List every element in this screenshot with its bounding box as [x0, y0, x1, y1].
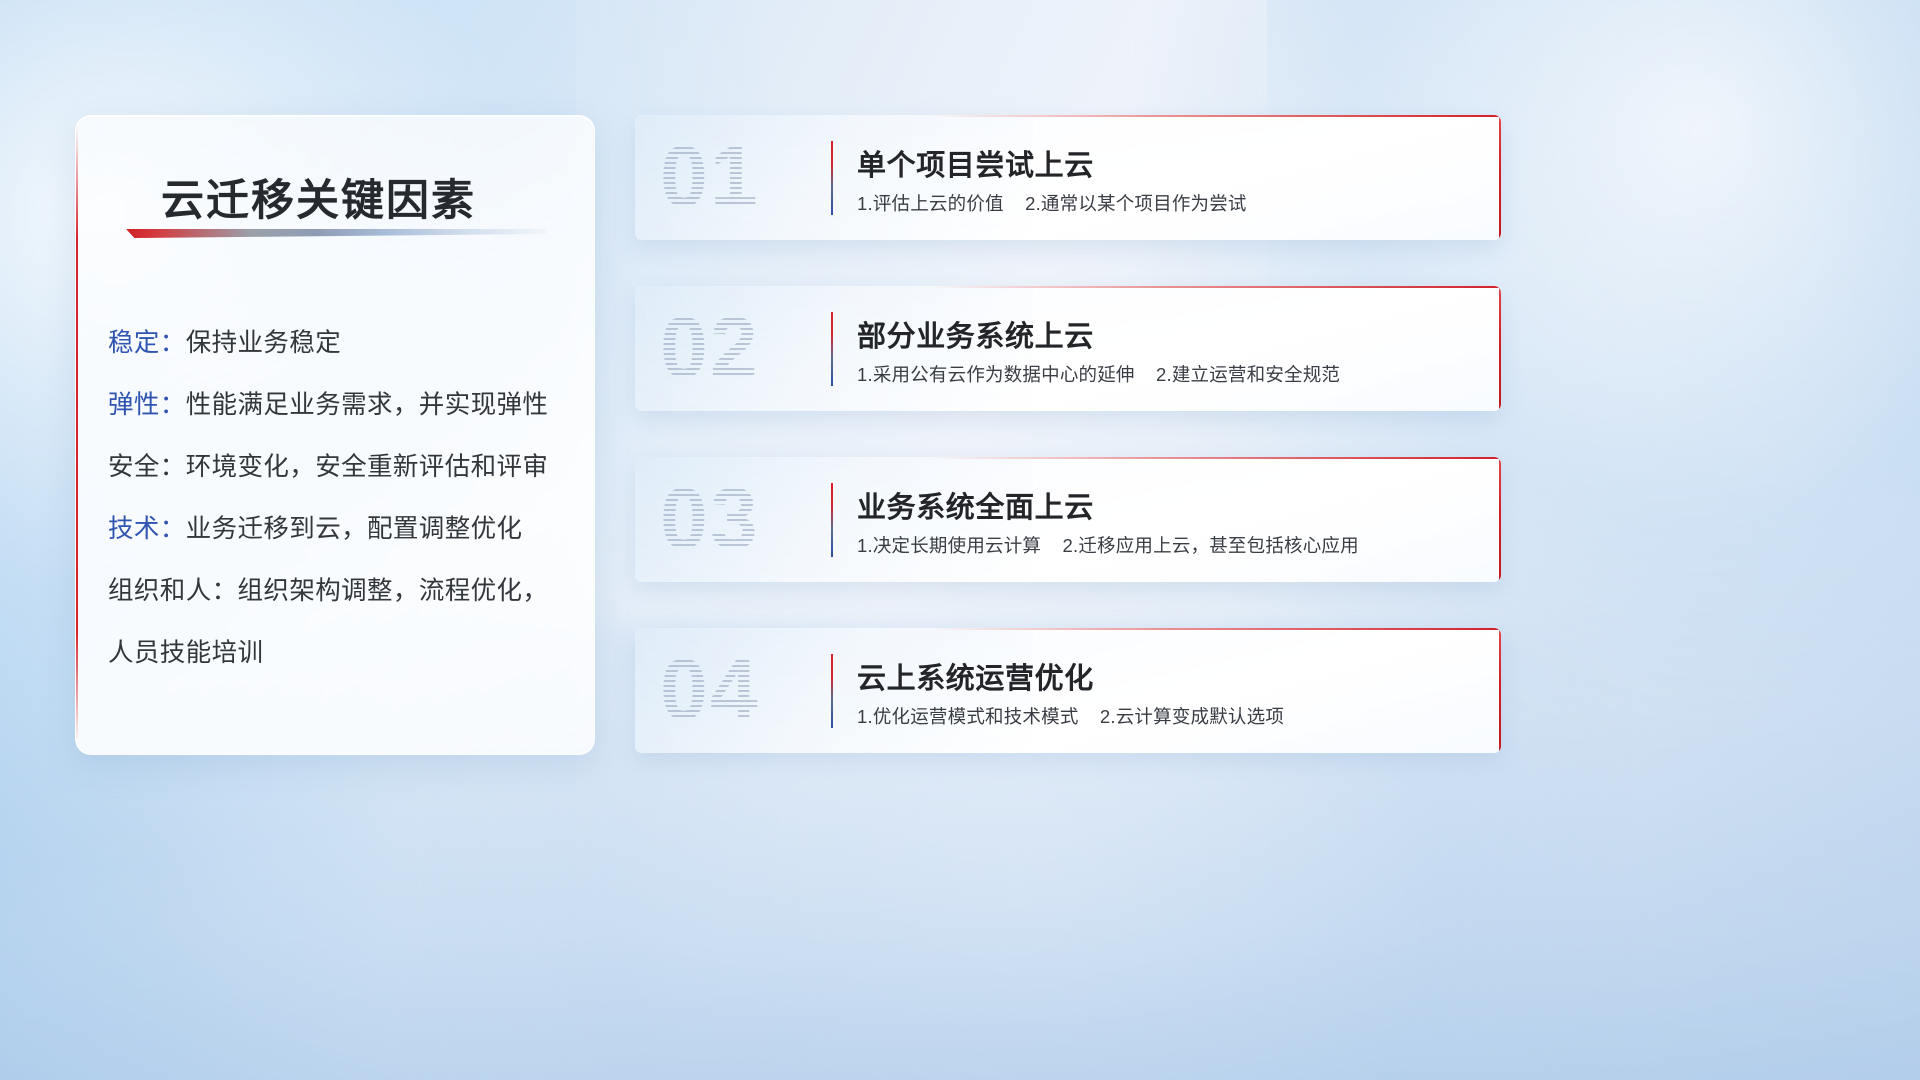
list-item-text: 性能满足业务需求，并实现弹性: [186, 391, 549, 419]
list-item: 稳定：保持业务稳定: [108, 312, 576, 374]
card-title: 单个项目尝试上云: [857, 142, 1094, 184]
card-number: 02: [660, 298, 760, 398]
list-item-key: 技术：: [108, 515, 186, 543]
card-divider: [831, 312, 833, 386]
card-divider: [831, 141, 833, 215]
card-description: 1.决定长期使用云计算 2.迁移应用上云，甚至包括核心应用: [857, 532, 1359, 558]
list-item: 组织和人：组织架构调整，流程优化，: [108, 560, 576, 622]
card-description: 1.采用公有云作为数据中心的延伸 2.建立运营和安全规范: [857, 361, 1340, 387]
card-title: 业务系统全面上云: [857, 484, 1094, 526]
card-description: 1.评估上云的价值 2.通常以某个项目作为尝试: [857, 190, 1247, 216]
card-title: 云上系统运营优化: [857, 655, 1094, 697]
list-item: 人员技能培训: [108, 622, 576, 684]
card-description: 1.优化运营模式和技术模式 2.云计算变成默认选项: [857, 703, 1284, 729]
list-item-key: 稳定：: [108, 329, 186, 357]
list-item-text: 人员技能培训: [108, 639, 263, 667]
stage-card-04[interactable]: 04 云上系统运营优化 1.优化运营模式和技术模式 2.云计算变成默认选项: [635, 628, 1501, 753]
card-number: 04: [660, 640, 760, 740]
list-item-key: 组织和人：: [108, 577, 238, 605]
list-item: 弹性：性能满足业务需求，并实现弹性: [108, 374, 576, 436]
card-divider: [831, 483, 833, 557]
card-number: 03: [660, 469, 760, 569]
key-factors-list: 稳定：保持业务稳定 弹性：性能满足业务需求，并实现弹性 安全：环境变化，安全重新…: [108, 312, 576, 684]
list-item-key: 安全：: [108, 453, 186, 481]
key-factors-panel: 云迁移关键因素 稳定：保持业务稳定 弹性：性能满足业务需求，并实现弹性 安全：环…: [75, 115, 595, 755]
list-item-text: 环境变化，安全重新评估和评审: [186, 453, 549, 481]
stage-card-01[interactable]: 01 单个项目尝试上云 1.评估上云的价值 2.通常以某个项目作为尝试: [635, 115, 1501, 240]
list-item-key: 弹性：: [108, 391, 186, 419]
card-title: 部分业务系统上云: [857, 313, 1094, 355]
list-item-text: 保持业务稳定: [186, 329, 341, 357]
stage-card-03[interactable]: 03 业务系统全面上云 1.决定长期使用云计算 2.迁移应用上云，甚至包括核心应…: [635, 457, 1501, 582]
card-number: 01: [660, 127, 760, 227]
list-item-text: 组织架构调整，流程优化，: [238, 577, 549, 605]
slide-stage: 云迁移关键因素 稳定：保持业务稳定 弹性：性能满足业务需求，并实现弹性 安全：环…: [0, 0, 1920, 1080]
stage-card-02[interactable]: 02 部分业务系统上云 1.采用公有云作为数据中心的延伸 2.建立运营和安全规范: [635, 286, 1501, 411]
list-item: 安全：环境变化，安全重新评估和评审: [108, 436, 576, 498]
panel-title-underline: [126, 229, 546, 238]
list-item-text: 业务迁移到云，配置调整优化: [186, 515, 523, 543]
list-item: 技术：业务迁移到云，配置调整优化: [108, 498, 576, 560]
panel-title: 云迁移关键因素: [161, 166, 476, 228]
card-divider: [831, 654, 833, 728]
